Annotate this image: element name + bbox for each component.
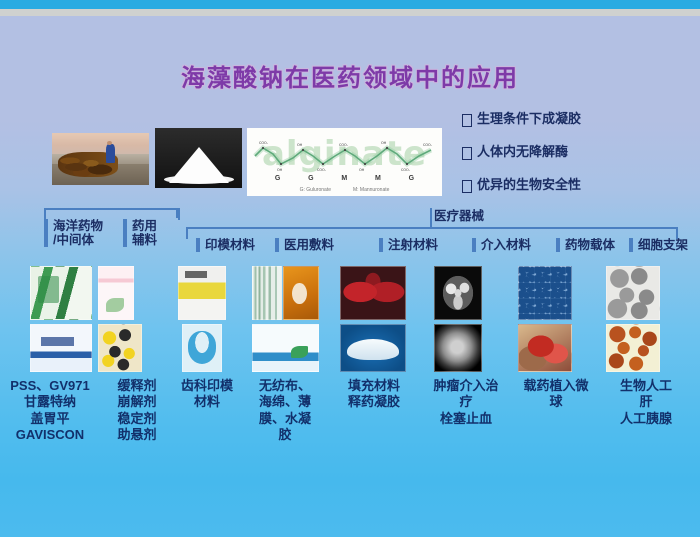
sodium-alginate-powder-photo: [155, 128, 242, 188]
cell-cluster-micrograph: [606, 266, 660, 320]
yellow-black-capsules: [98, 324, 142, 372]
white-implant-photo: [340, 324, 406, 372]
structure-legend: G: Guluronate M: Mannuronate: [247, 187, 442, 193]
svg-text:OH: OH: [359, 168, 365, 172]
bullet-text: 人体内无降解酶: [477, 145, 568, 159]
caption-injection: 填充材料 释药凝胶: [330, 378, 418, 411]
blue-dental-impression-tray: [182, 324, 222, 372]
dressing-sample-photo: [283, 266, 319, 320]
flow-node-cell-scaffold[interactable]: 细胞支架: [629, 238, 688, 252]
yellow-label-powder-bag: [178, 266, 226, 320]
green-oral-liquid-package: [30, 266, 92, 320]
svg-text:OH: OH: [381, 141, 387, 145]
svg-text:OH: OH: [277, 168, 283, 172]
caption-excipient: 缓释剂 崩解剂 稳定剂 助悬剂: [104, 378, 170, 443]
unit-label: M: [375, 175, 381, 182]
flow-node-medical-dressing[interactable]: 医用敷料: [275, 238, 334, 252]
bullet-item: 人体内无降解酶: [462, 145, 698, 160]
svg-text:COO-: COO-: [423, 143, 433, 147]
polymer-chain-drawing: COO-OH OHCOO- COO-OH OHCOO- COO-: [251, 138, 438, 174]
microsphere-array-micrograph: [518, 266, 572, 320]
svg-text:COO-: COO-: [317, 168, 327, 172]
surgical-procedure-photo: [518, 324, 572, 372]
bullet-text: 优异的生物安全性: [477, 178, 581, 192]
stained-islet-cells-micrograph: [606, 324, 660, 372]
presentation-slide: 海藻酸钠在医药领域中的应用 alginate COO-OH OHCOO- COO…: [0, 0, 700, 537]
flow-group-medical-device: 医疗器械: [434, 209, 484, 223]
wound-dressing-package: [252, 324, 319, 372]
caption-dressing: 无纺布、 海绵、薄 膜、水凝 胶: [248, 378, 322, 443]
harvester-figure: [106, 144, 115, 163]
pink-medicine-carton: [98, 266, 134, 320]
gray-divider-bar: [0, 9, 700, 16]
bullet-text: 生理条件下成凝胶: [477, 112, 581, 126]
legend-guluronate: G: Guluronate: [300, 187, 331, 193]
heart-anatomy-photo: [340, 266, 406, 320]
flow-node-injection-material[interactable]: 注射材料: [379, 238, 438, 252]
seaweed-harvest-photo: [52, 133, 149, 185]
blue-medicine-box: [30, 324, 92, 372]
square-bullet-icon: [462, 114, 472, 127]
svg-text:COO-: COO-: [401, 168, 411, 172]
trunk-stem: [176, 208, 178, 218]
powder-cone: [169, 147, 229, 183]
unit-label: G: [275, 175, 280, 182]
svg-text:COO-: COO-: [339, 143, 349, 147]
alginate-structure-diagram: alginate COO-OH OHCOO- COO-OH OHCOO- COO…: [247, 128, 442, 196]
unit-label: G: [409, 175, 414, 182]
unit-label: G: [308, 175, 313, 182]
bullet-item: 优异的生物安全性: [462, 178, 698, 193]
application-captions: PSS、GV971 甘露特纳 盖胃平 GAVISCON 缓释剂 崩解剂 稳定剂 …: [0, 378, 700, 468]
application-image-grid: [0, 262, 700, 377]
slide-title: 海藻酸钠在医药领域中的应用: [0, 58, 700, 93]
svg-text:COO-: COO-: [259, 141, 269, 145]
flow-node-impression-material[interactable]: 印模材料: [196, 238, 255, 252]
caption-cell-scaffold: 生物人工 肝 人工胰腺: [602, 378, 690, 427]
caption-marine-drug: PSS、GV971 甘露特纳 盖胃平 GAVISCON: [0, 378, 104, 443]
alginate-fiber-photo: [252, 266, 282, 320]
application-flowchart: 海洋药物 /中间体 药用 辅料 医疗器械 印模材料 医用敷料 注射材料 介入材料…: [0, 205, 700, 265]
unit-label: M: [341, 175, 347, 182]
flow-node-interventional-material[interactable]: 介入材料: [472, 238, 531, 252]
medical-device-stem: [430, 208, 432, 228]
caption-drug-carrier: 载药植入微 球: [512, 378, 600, 411]
flow-node-drug-carrier[interactable]: 药物载体: [556, 238, 615, 252]
svg-text:OH: OH: [297, 143, 303, 147]
ct-scan-image: [434, 266, 482, 320]
bullet-item: 生理条件下成凝胶: [462, 112, 698, 127]
caption-impression: 齿科印模 材料: [172, 378, 242, 411]
property-bullet-list: 生理条件下成凝胶 人体内无降解酶 优异的生物安全性: [462, 112, 698, 211]
top-accent-bar: [0, 0, 700, 9]
square-bullet-icon: [462, 180, 472, 193]
legend-mannuronate: M: Mannuronate: [353, 187, 389, 193]
angiography-xray-image: [434, 324, 482, 372]
caption-interventional: 肿瘤介入治 疗 栓塞止血: [424, 378, 508, 427]
unit-labels-row: G G M M G: [247, 175, 442, 182]
square-bullet-icon: [462, 147, 472, 160]
flow-node-excipient[interactable]: 药用 辅料: [123, 219, 157, 247]
flow-node-marine-drug[interactable]: 海洋药物 /中间体: [44, 219, 103, 247]
